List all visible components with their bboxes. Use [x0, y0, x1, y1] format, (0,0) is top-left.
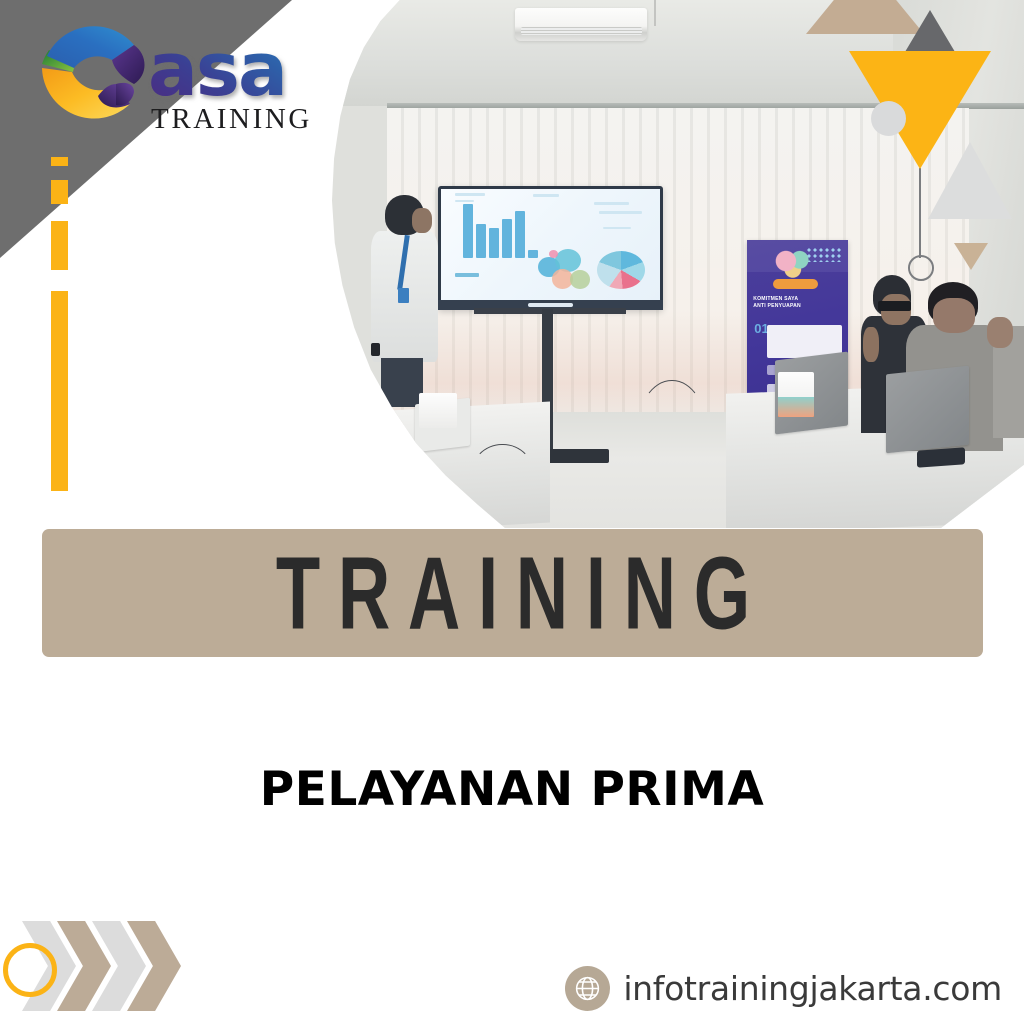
training-title-banner: TRAINING: [42, 529, 983, 657]
globe-icon: [565, 966, 610, 1011]
photo-laptop-2: [886, 365, 969, 453]
yellow-dash-1: [51, 157, 68, 166]
course-subtitle: PELAYANAN PRIMA: [0, 762, 1024, 817]
yellow-dash-3: [51, 221, 68, 270]
yellow-dash-4: [51, 291, 68, 491]
photo-smartphone: [917, 447, 965, 467]
website-url: infotrainingjakarta.com: [623, 969, 1002, 1008]
white-circle-icon: [871, 101, 906, 136]
photo-presenter: [370, 195, 439, 406]
brand-logo[interactable]: asa TRAINING: [30, 12, 330, 157]
photo-tissue-box-2: [778, 372, 814, 417]
pendant-ring-icon: [908, 255, 934, 281]
logo-wordmark: asa TRAINING: [148, 40, 312, 136]
standee-banner-text: KOMITMEN SAYA ANTI PENYUAPAN: [753, 296, 846, 309]
photo-dashboard: [441, 189, 659, 301]
photo-air-conditioner: [515, 8, 646, 41]
dashboard-bar-chart: [463, 204, 537, 258]
photo-tissue-box-1: [419, 393, 457, 427]
website-footer[interactable]: infotrainingjakarta.com: [565, 962, 1002, 1014]
page-title: TRAINING: [258, 542, 768, 645]
photo-display-screen: [438, 186, 664, 310]
yellow-ring-icon: [3, 943, 57, 997]
photo-participant-3: [993, 301, 1024, 438]
casa-swirl-icon: [30, 12, 158, 140]
photo-ac-pipe: [654, 0, 656, 26]
dashboard-bubble-chart: [538, 249, 604, 294]
poster-canvas: KOMITMEN SAYA ANTI PENYUAPAN 01 02: [0, 0, 1024, 1024]
yellow-dash-2: [51, 180, 68, 204]
tan-triangle-down-icon: [954, 243, 988, 270]
dashboard-pie-chart: [597, 251, 645, 289]
subtitle-block: PELAYANAN PRIMA: [0, 762, 1024, 817]
photo-cable-2: [470, 444, 534, 509]
photo-cable-1: [636, 380, 707, 488]
pendant-line-icon: [919, 168, 921, 258]
light-gray-triangle-up-icon: [928, 142, 1012, 219]
logo-name-asa: asa: [148, 40, 312, 101]
